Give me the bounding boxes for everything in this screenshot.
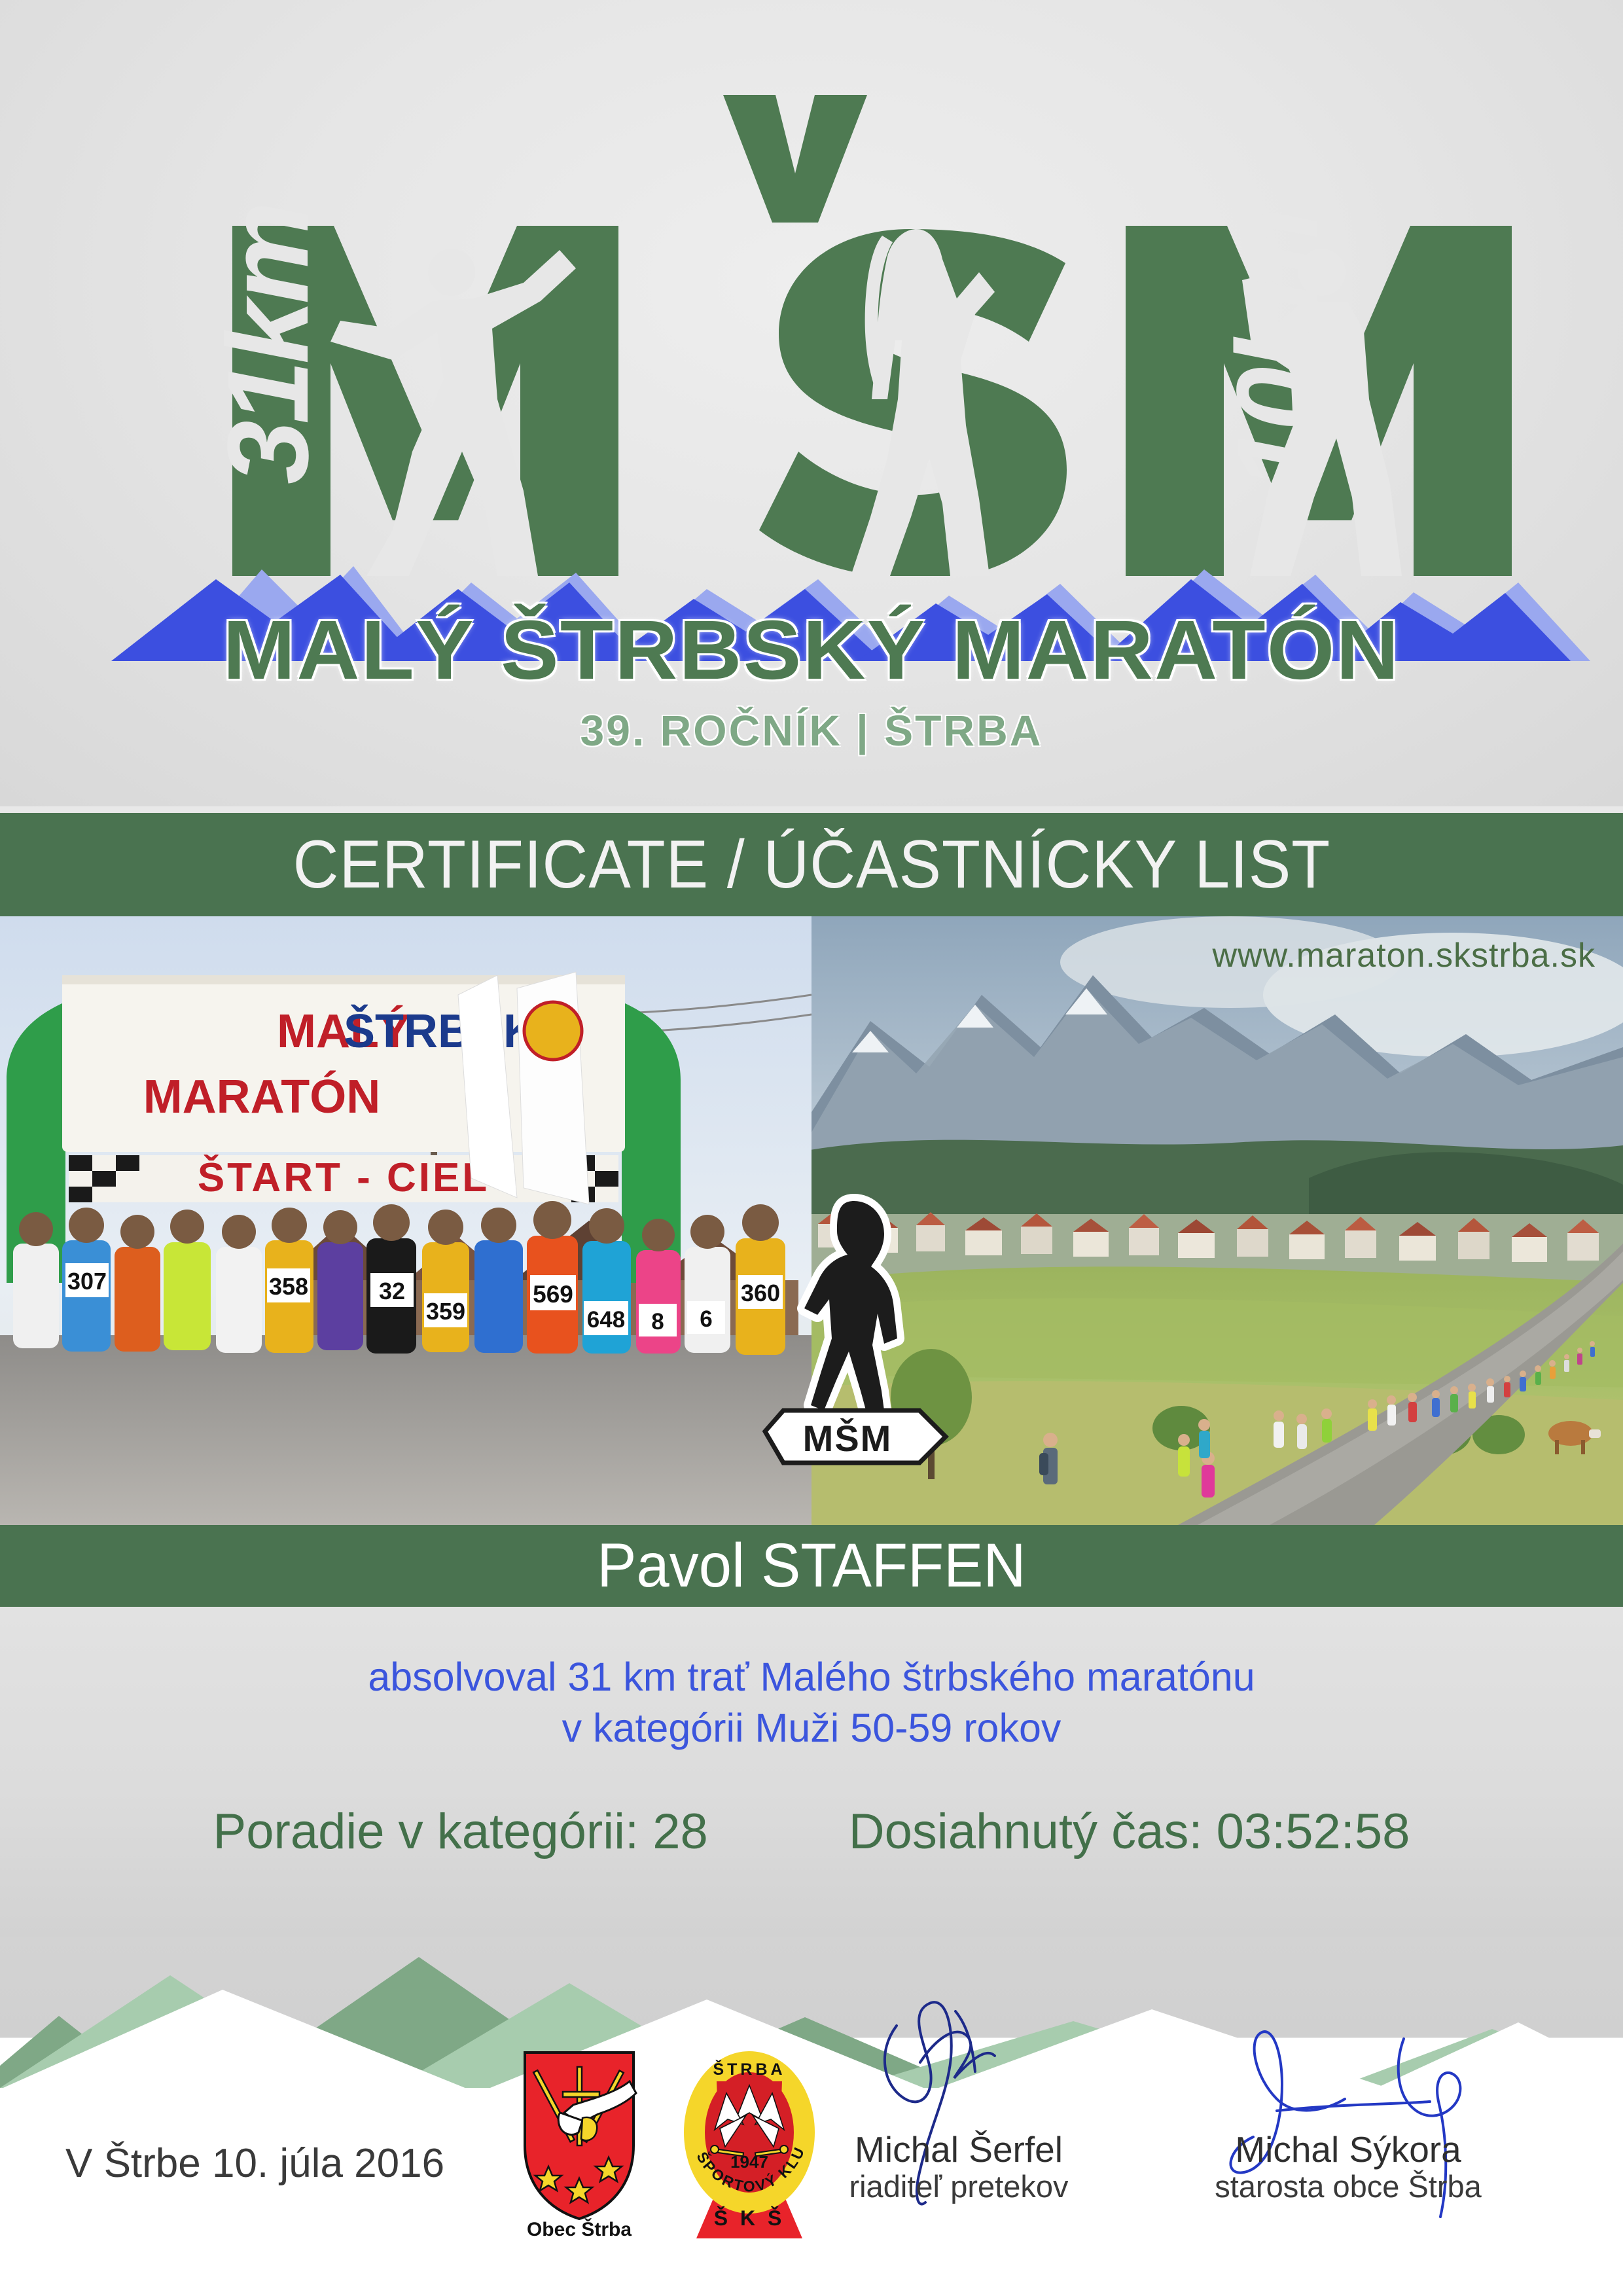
sks-top-text: ŠTRBA bbox=[713, 2059, 785, 2079]
website-url: www.maraton.skstrba.sk bbox=[1213, 936, 1596, 975]
sks-year: 1947 bbox=[730, 2152, 768, 2172]
participant-name-banner: Pavol STAFFEN bbox=[0, 1525, 1623, 1607]
issue-date: V Štrbe 10. júla 2016 bbox=[65, 2140, 444, 2187]
signatory-name: Michal Sýkora bbox=[1185, 2130, 1512, 2169]
badge-31km: 31km bbox=[204, 206, 332, 484]
svg-text:307: 307 bbox=[67, 1268, 107, 1295]
description-line-1: absolvoval 31 km trať Malého štrbského m… bbox=[0, 1651, 1623, 1702]
participant-name: Pavol STAFFEN bbox=[597, 1530, 1026, 1602]
msm-wordmark: 31km 10km bbox=[0, 33, 1623, 576]
svg-text:MARATÓN: MARATÓN bbox=[143, 1070, 381, 1123]
certificate-banner-title: CERTIFICATE / ÚČASTNÍCKY LIST bbox=[293, 826, 1330, 904]
certificate-banner: CERTIFICATE / ÚČASTNÍCKY LIST bbox=[0, 813, 1623, 916]
description-line-2: v kategórii Muži 50-59 rokov bbox=[0, 1702, 1623, 1753]
achievement-description: absolvoval 31 km trať Malého štrbského m… bbox=[0, 1651, 1623, 1753]
svg-text:648: 648 bbox=[587, 1307, 625, 1333]
obec-strba-coat-of-arms: Obec Štrba bbox=[517, 2047, 641, 2238]
sks-club-logo: ŠTRBA 1947 ŠPORTOVÝ KLUB Š K Š bbox=[681, 2047, 818, 2238]
svg-text:31km: 31km bbox=[204, 206, 332, 484]
svg-text:8: 8 bbox=[651, 1309, 664, 1335]
event-subtitle: 39. ROČNÍK | ŠTRBA bbox=[0, 706, 1623, 755]
msm-runner-emblem: MŠM bbox=[756, 1175, 952, 1469]
sks-abbrev: Š K Š bbox=[714, 2206, 785, 2230]
category-rank: Poradie v kategórii: 28 bbox=[213, 1803, 708, 1860]
svg-text:ŠTART - CIEĽ: ŠTART - CIEĽ bbox=[198, 1155, 490, 1200]
event-title: MALÝ ŠTRBSKÝ MARATÓN bbox=[0, 609, 1623, 692]
svg-text:32: 32 bbox=[379, 1278, 405, 1304]
svg-text:359: 359 bbox=[426, 1298, 465, 1325]
emblem-label: MŠM bbox=[803, 1418, 893, 1459]
participant-details-area: absolvoval 31 km trať Malého štrbského m… bbox=[0, 1607, 1623, 1937]
results-row: Poradie v kategórii: 28 Dosiahnutý čas: … bbox=[0, 1803, 1623, 1860]
svg-text:358: 358 bbox=[269, 1273, 308, 1300]
signature-block-race-director: Michal Šerfel riaditeľ pretekov bbox=[821, 2130, 1096, 2204]
signatory-name: Michal Šerfel bbox=[821, 2130, 1096, 2169]
signatory-role: starosta obce Štrba bbox=[1185, 2169, 1512, 2204]
crest-obec-label: Obec Štrba bbox=[527, 2218, 632, 2238]
finish-time: Dosiahnutý čas: 03:52:58 bbox=[849, 1803, 1410, 1860]
signatory-role: riaditeľ pretekov bbox=[821, 2169, 1096, 2204]
svg-text:10km: 10km bbox=[1213, 212, 1342, 491]
start-line-photo: MALÝ ŠTRBSKÝ MARATÓN ŠTART - CIEĽ bbox=[0, 916, 811, 1525]
badge-10km: 10km bbox=[1213, 212, 1342, 491]
svg-text:6: 6 bbox=[700, 1306, 712, 1332]
caron-accent bbox=[723, 95, 867, 223]
logo-header-area: 31km 10km MALÝ ŠTRBSKÝ MARATÓN 39. ROČNÍ… bbox=[0, 0, 1623, 806]
signature-block-mayor: Michal Sýkora starosta obce Štrba bbox=[1185, 2130, 1512, 2204]
svg-text:569: 569 bbox=[533, 1281, 573, 1308]
